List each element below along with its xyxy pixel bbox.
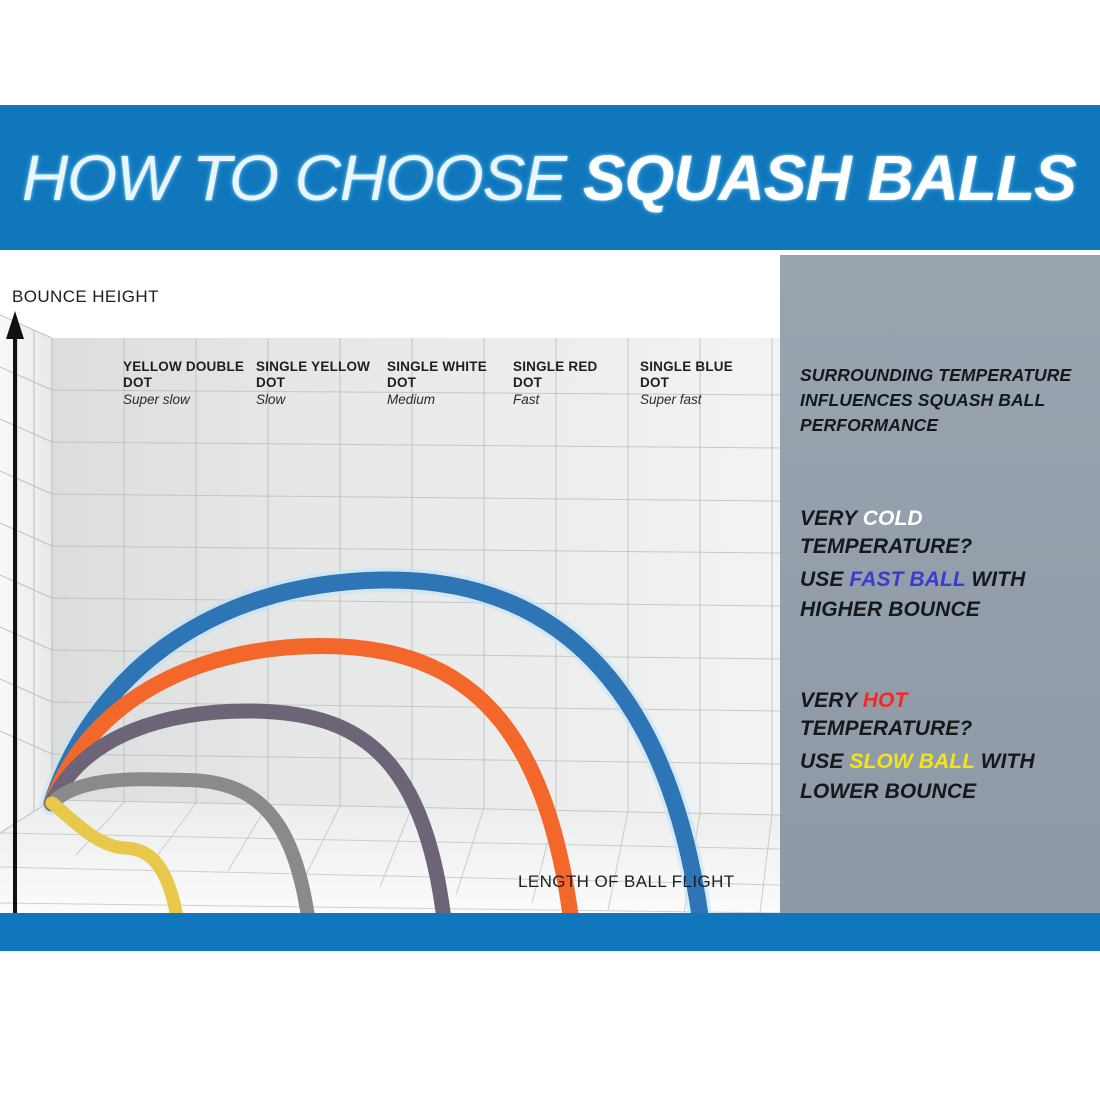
legend-single-yellow-dot: SINGLE YELLOWDOT Slow bbox=[256, 359, 386, 409]
legend-speed: Super slow bbox=[123, 391, 253, 409]
tip-hot-a-post: WITH bbox=[975, 750, 1035, 773]
legend-yellow-double-dot: YELLOW DOUBLEDOT Super slow bbox=[123, 359, 253, 409]
tip-hot-highlight: HOT bbox=[863, 689, 908, 712]
left-wall bbox=[0, 315, 52, 833]
tip-cold-question: VERY COLD TEMPERATURE? bbox=[800, 505, 1082, 561]
legend-single-white-dot: SINGLE WHITEDOT Medium bbox=[387, 359, 517, 409]
tip-fast-ball-highlight: FAST BALL bbox=[849, 568, 965, 591]
title-light-part: HOW TO CHOOSE bbox=[22, 142, 566, 214]
tip-hot-question: VERY HOT TEMPERATURE? bbox=[800, 687, 1082, 743]
legend-title: SINGLE YELLOWDOT bbox=[256, 359, 386, 390]
tip-hot-a-line2: LOWER BOUNCE bbox=[800, 780, 976, 803]
footer-banner bbox=[0, 913, 1100, 951]
tip-slow-ball-highlight: SLOW BALL bbox=[849, 750, 974, 773]
legend-title: YELLOW DOUBLEDOT bbox=[123, 359, 253, 390]
tip-hot-a-pre: USE bbox=[800, 750, 849, 773]
tip-cold-q-post: TEMPERATURE? bbox=[800, 535, 972, 558]
tip-hot-q-pre: VERY bbox=[800, 689, 863, 712]
y-axis-title: BOUNCE HEIGHT bbox=[12, 287, 159, 307]
floor-plane bbox=[0, 800, 780, 913]
legend-single-red-dot: SINGLE REDDOT Fast bbox=[513, 359, 643, 409]
tip-intro: SURROUNDING TEMPERATURE INFLUENCES SQUAS… bbox=[800, 363, 1082, 438]
tip-cold-q-pre: VERY bbox=[800, 507, 863, 530]
tip-cold-answer: USE FAST BALL WITH HIGHER BOUNCE bbox=[800, 565, 1082, 625]
legend-title: SINGLE WHITEDOT bbox=[387, 359, 517, 390]
page-title: HOW TO CHOOSE SQUASH BALLS bbox=[22, 146, 1076, 210]
legend-speed: Slow bbox=[256, 391, 386, 409]
tip-hot-answer: USE SLOW BALL WITH LOWER BOUNCE bbox=[800, 747, 1082, 807]
legend-title: SINGLE REDDOT bbox=[513, 359, 643, 390]
tips-panel: SURROUNDING TEMPERATURE INFLUENCES SQUAS… bbox=[780, 255, 1100, 913]
infographic-root: HOW TO CHOOSE SQUASH BALLS bbox=[0, 0, 1100, 1100]
tip-cold-a-line2: HIGHER BOUNCE bbox=[800, 598, 980, 621]
header-banner: HOW TO CHOOSE SQUASH BALLS bbox=[0, 105, 1100, 250]
chart-svg bbox=[0, 255, 780, 913]
tip-hot-q-post: TEMPERATURE? bbox=[800, 717, 972, 740]
legend-speed: Super fast bbox=[640, 391, 770, 409]
legend-title: SINGLE BLUEDOT bbox=[640, 359, 770, 390]
legend-single-blue-dot: SINGLE BLUEDOT Super fast bbox=[640, 359, 770, 409]
legend-speed: Medium bbox=[387, 391, 517, 409]
x-axis-title: LENGTH OF BALL FLIGHT bbox=[518, 872, 735, 892]
tip-cold-highlight: COLD bbox=[863, 507, 923, 530]
tip-cold-a-post: WITH bbox=[965, 568, 1025, 591]
legend-speed: Fast bbox=[513, 391, 643, 409]
chart-area: YELLOW DOUBLEDOT Super slow SINGLE YELLO… bbox=[0, 255, 780, 913]
tip-cold-a-pre: USE bbox=[800, 568, 849, 591]
title-bold-part: SQUASH BALLS bbox=[583, 142, 1076, 214]
